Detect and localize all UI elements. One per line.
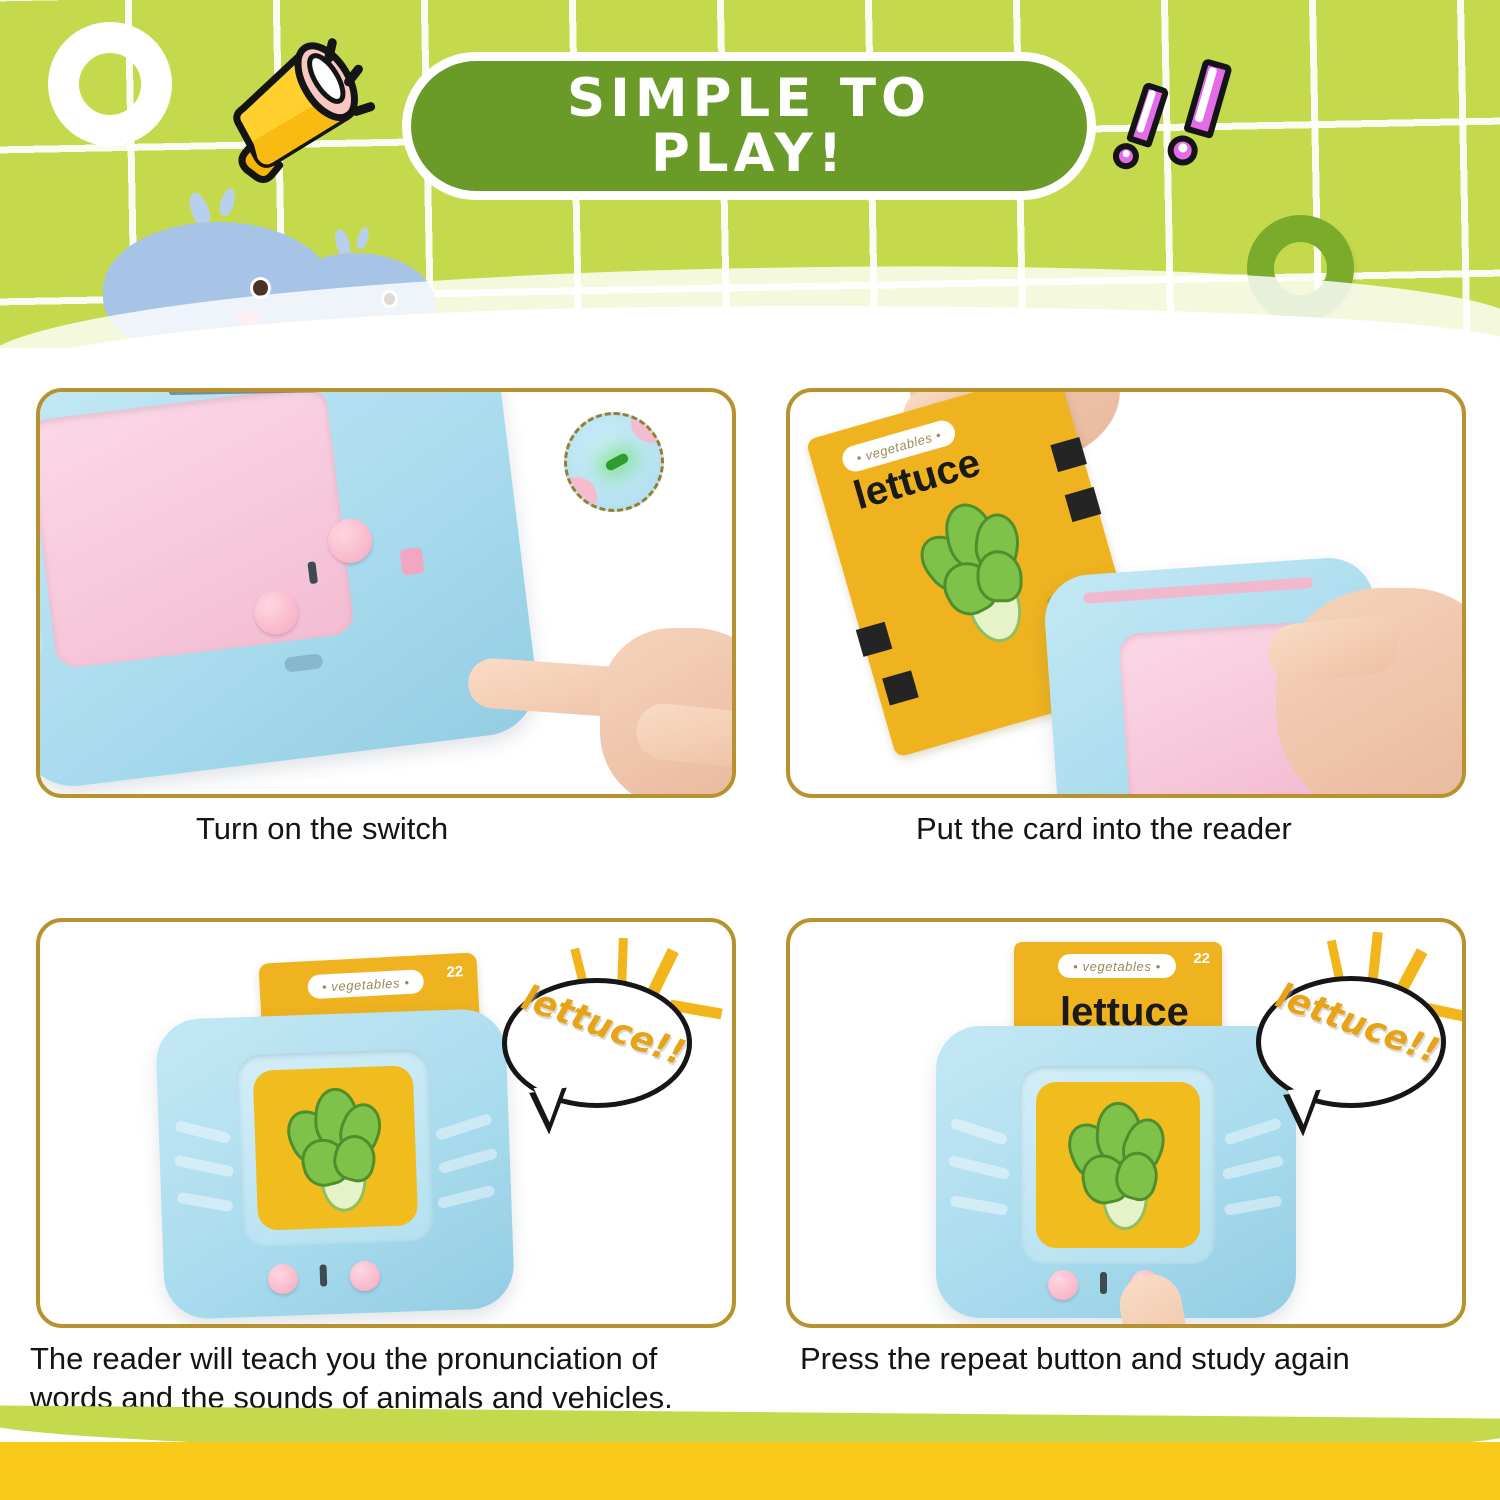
device-screen-1 [36,388,355,669]
step-caption-3-line-1: The reader will teach you the pronunciat… [30,1339,750,1378]
step-caption-4: Press the repeat button and study again [800,1339,1350,1378]
step-panel-1 [36,388,736,798]
page-title-line-2: PLAY! [567,126,931,181]
lettuce-illustration-3 [281,1084,395,1216]
card-reader-device-4 [936,1026,1296,1318]
steps-grid: • vegetables • lettuce [0,372,1500,1402]
white-ring-decoration [48,22,172,146]
power-switch-closeup-inset [564,412,664,512]
step-caption-1: Turn on the switch [196,809,448,848]
card-number-3: 22 [446,963,464,981]
device-screen-3 [253,1065,418,1230]
megaphone-icon [225,35,365,190]
lettuce-illustration-4 [1064,1100,1176,1232]
card-number-4: 22 [1193,950,1210,967]
card-reader-device-3 [155,1008,515,1320]
card-category-text-4: vegetables [1083,959,1152,974]
card-category-text-3: vegetables [331,975,401,994]
indicator-slot-3 [320,1264,328,1286]
step-panel-4: • vegetables • 22 lettuce [786,918,1466,1328]
step-caption-3: The reader will teach you the pronunciat… [30,1339,750,1417]
card-category-dot-left: • [322,979,328,994]
step-panel-2: • vegetables • lettuce [786,388,1466,798]
product-infographic: SIMPLE TO PLAY! [0,0,1500,1500]
card-category-dot-right-4: • [1156,959,1161,974]
power-switch-1[interactable] [400,547,425,575]
volume-button-4[interactable] [1048,1270,1078,1300]
footer-yellow-bar [0,1442,1500,1500]
page-title-line-1: SIMPLE TO [567,71,931,126]
card-reader-device-1 [36,388,542,792]
step-panel-3: • vegetables • 22 lettuce [36,918,736,1328]
card-category-dot-right: • [404,974,410,989]
device-screen-4 [1036,1082,1200,1248]
led-indicator-icon [604,452,630,472]
header-banner-area: SIMPLE TO PLAY! [0,0,1500,348]
card-category-tag-4: • vegetables • [1058,954,1176,978]
indicator-slot-4 [1100,1272,1107,1294]
card-category-dot-left-4: • [1073,959,1078,974]
page-title: SIMPLE TO PLAY! [567,71,931,181]
footer-band [0,1414,1500,1500]
banner-fill: SIMPLE TO PLAY! [411,61,1087,191]
step-caption-2: Put the card into the reader [916,809,1292,848]
title-banner: SIMPLE TO PLAY! [402,52,1096,200]
